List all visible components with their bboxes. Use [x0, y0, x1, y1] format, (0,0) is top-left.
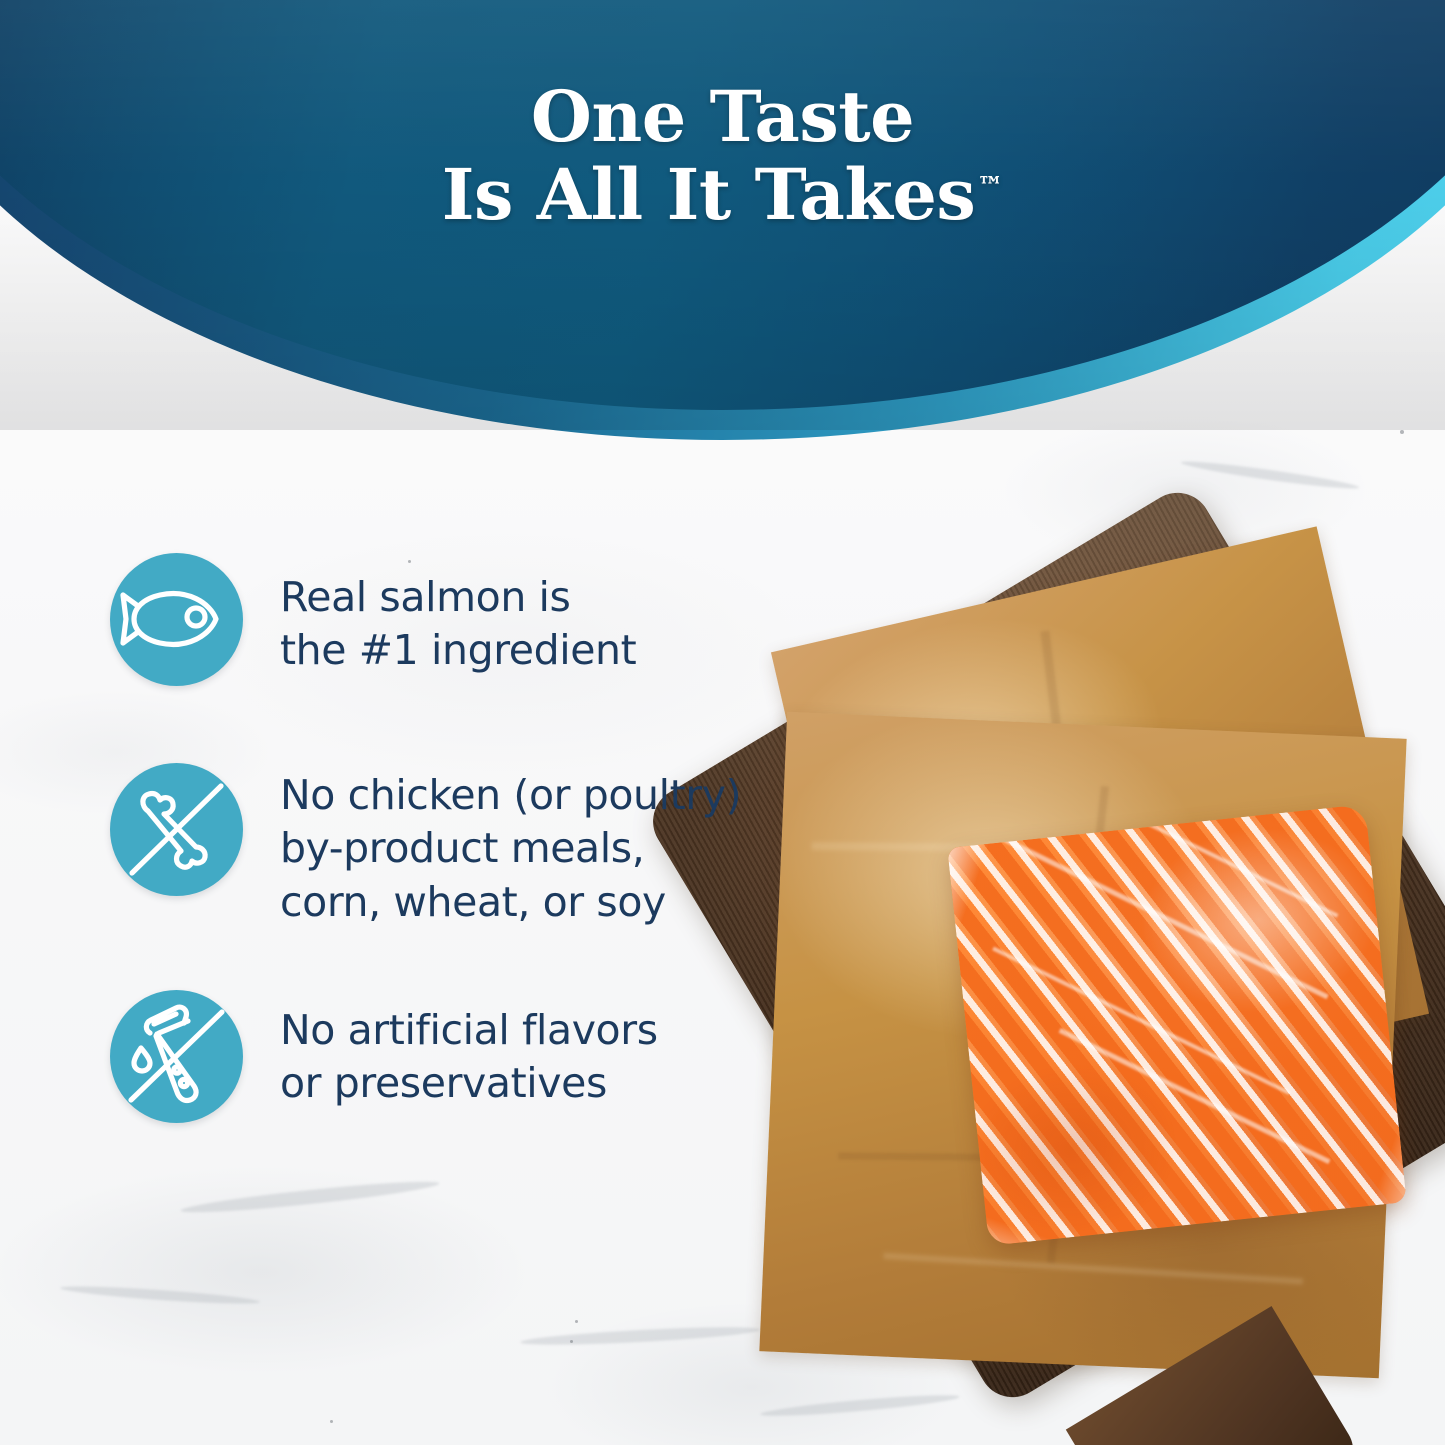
salmon-fillet: [947, 804, 1407, 1246]
promo-image: One Taste Is All It Takes™: [0, 0, 1445, 1445]
feature-text-salmon: Real salmon is the #1 ingredient: [280, 553, 636, 678]
feature-item-no-artificial: No artificial flavors or preservatives: [110, 990, 658, 1123]
no-bone-icon: [110, 763, 243, 896]
feature-item-salmon: Real salmon is the #1 ingredient: [110, 553, 636, 686]
no-test-tube-icon: [110, 990, 243, 1123]
page-title: One Taste Is All It Takes™: [0, 78, 1445, 235]
headline-line-2: Is All It Takes: [442, 153, 976, 236]
salmon-edge: [947, 804, 1407, 1246]
salmon-photo: [735, 575, 1445, 1445]
hero-banner: One Taste Is All It Takes™: [0, 0, 1445, 470]
fish-icon: [110, 553, 243, 686]
feature-item-no-chicken: No chicken (or poultry) by-product meals…: [110, 763, 741, 929]
feature-text-no-artificial: No artificial flavors or preservatives: [280, 990, 658, 1111]
trademark-symbol: ™: [977, 172, 1003, 202]
headline-line-2-wrap: Is All It Takes™: [442, 156, 1004, 234]
headline-line-1: One Taste: [0, 78, 1445, 156]
feature-text-no-chicken: No chicken (or poultry) by-product meals…: [280, 763, 741, 929]
